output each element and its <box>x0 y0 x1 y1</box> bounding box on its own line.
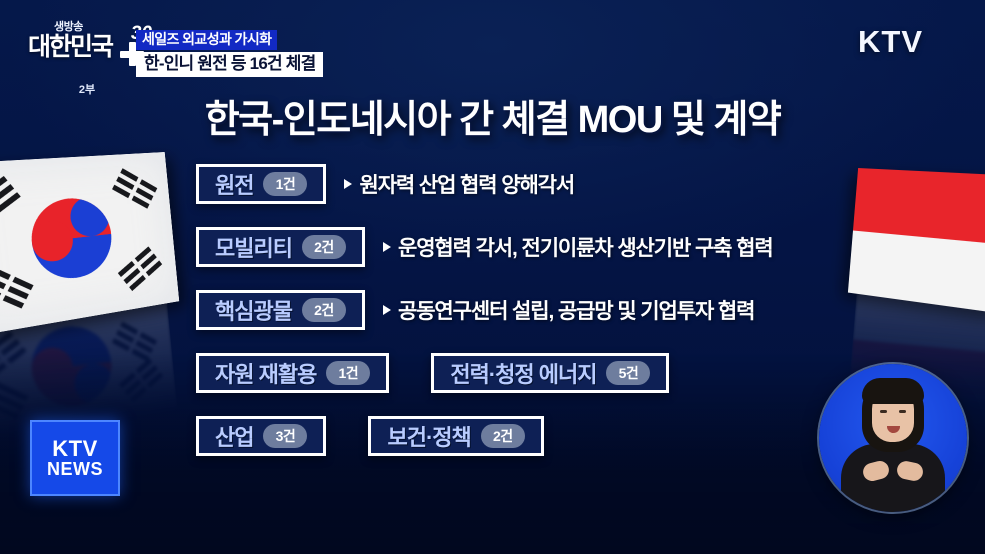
taeguk-circle <box>27 195 115 283</box>
program-logo-title: 대한민국 <box>28 35 112 60</box>
interpreter-eye-left <box>880 410 887 413</box>
broadcast-screen: 생방송 대한민국 30 2부 세일즈 외교성과 가시화 한-인니 원전 등 16… <box>0 0 985 554</box>
status-badge: 2건 <box>481 424 525 448</box>
interpreter-body <box>841 444 945 512</box>
program-logo: 생방송 대한민국 30 2부 <box>28 22 146 88</box>
list-item: 원전 1건 원자력 산업 협력 양해각서 <box>196 162 945 206</box>
status-badge: 2건 <box>302 298 346 322</box>
category-chip-health-policy: 보건·정책 2건 <box>368 416 543 456</box>
category-description-wrap: 원자력 산업 협력 양해각서 <box>344 169 574 199</box>
status-badge: 1건 <box>263 172 307 196</box>
sign-language-interpreter <box>819 364 967 512</box>
category-description-wrap: 운영협력 각서, 전기이륜차 생산기반 구축 협력 <box>383 232 773 262</box>
category-chip-power-clean-energy: 전력·청정 에너지 5건 <box>431 353 669 393</box>
interpreter-mouth <box>887 426 900 433</box>
list-item: 자원 재활용 1건 전력·청정 에너지 5건 <box>196 351 945 395</box>
category-description-wrap: 공동연구센터 설립, 공급망 및 기업투자 협력 <box>383 295 754 325</box>
trigram-ri <box>0 266 34 314</box>
category-label: 산업 <box>215 420 253 452</box>
trigram-gam <box>110 168 158 213</box>
status-badge: 5건 <box>606 361 650 385</box>
headline-main: 한-인니 원전 등 16건 체결 <box>136 52 323 77</box>
category-label: 원전 <box>215 168 253 200</box>
triangle-right-icon <box>383 242 391 252</box>
headline-banner: 세일즈 외교성과 가시화 한-인니 원전 등 16건 체결 <box>136 30 323 77</box>
category-chip-resource-recycling: 자원 재활용 1건 <box>196 353 389 393</box>
category-chip-nuclear: 원전 1건 <box>196 164 326 204</box>
program-logo-live-text: 생방송 <box>54 22 83 33</box>
interpreter-eye-right <box>899 410 906 413</box>
category-description: 공동연구센터 설립, 공급망 및 기업투자 협력 <box>398 295 754 325</box>
list-item: 핵심광물 2건 공동연구센터 설립, 공급망 및 기업투자 협력 <box>196 288 945 332</box>
status-badge: 1건 <box>326 361 370 385</box>
category-label: 보건·정책 <box>387 420 470 452</box>
list-item: 모빌리티 2건 운영협력 각서, 전기이륜차 생산기반 구축 협력 <box>196 225 945 269</box>
page-title: 한국-인도네시아 간 체결 MOU 및 계약 <box>0 88 985 143</box>
category-label: 모빌리티 <box>215 231 292 263</box>
interpreter-fringe <box>862 378 924 404</box>
category-chip-critical-minerals: 핵심광물 2건 <box>196 290 365 330</box>
status-badge: 3건 <box>263 424 307 448</box>
triangle-right-icon <box>344 179 352 189</box>
ktv-news-watermark: KTV NEWS <box>30 420 120 496</box>
status-badge: 2건 <box>302 235 346 259</box>
category-chip-mobility: 모빌리티 2건 <box>196 227 365 267</box>
category-label: 핵심광물 <box>215 294 292 326</box>
triangle-right-icon <box>383 305 391 315</box>
category-label: 전력·청정 에너지 <box>450 357 596 389</box>
ktv-logo: KTV <box>858 24 923 60</box>
ktv-news-line1: KTV <box>52 437 98 460</box>
headline-subtitle: 세일즈 외교성과 가시화 <box>136 30 277 50</box>
trigram-geon <box>0 176 24 229</box>
category-description: 원자력 산업 협력 양해각서 <box>359 169 574 199</box>
category-description: 운영협력 각서, 전기이륜차 생산기반 구축 협력 <box>398 232 773 262</box>
category-label: 자원 재활용 <box>215 357 316 389</box>
ktv-news-line2: NEWS <box>47 460 103 479</box>
category-chip-industry: 산업 3건 <box>196 416 326 456</box>
trigram-gon <box>118 246 165 294</box>
